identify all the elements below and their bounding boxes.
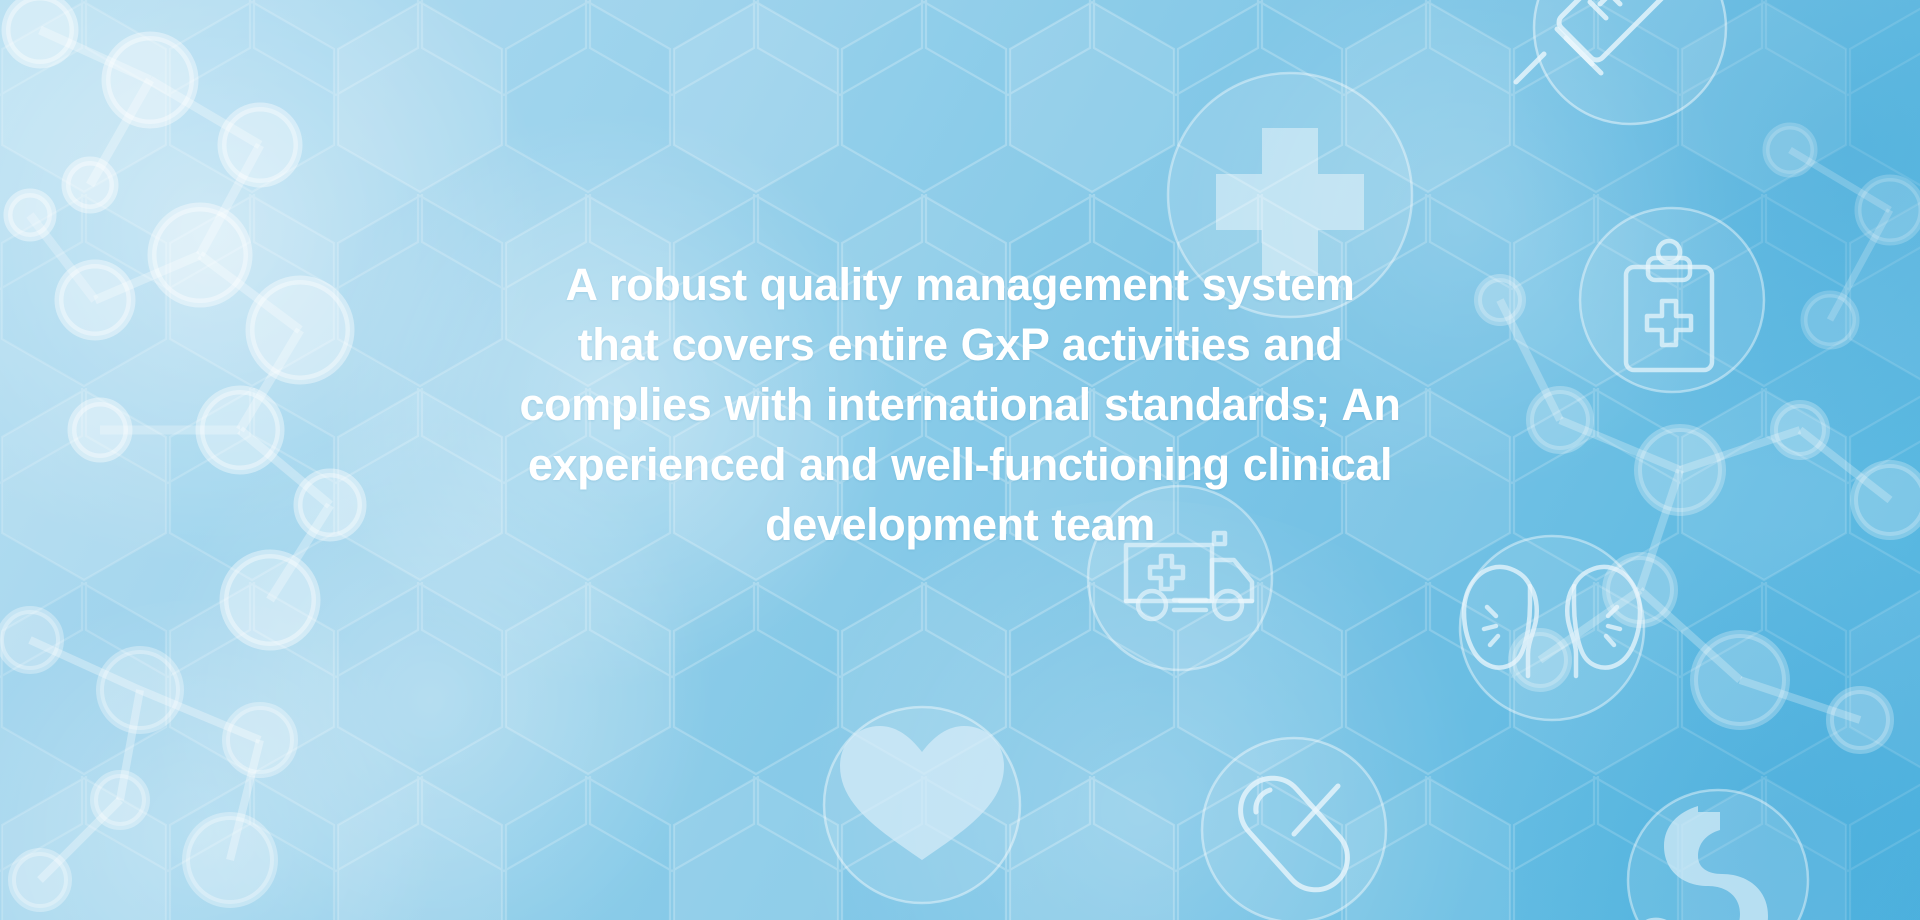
stomach-icon — [1626, 790, 1808, 920]
icon-decoration-layer — [0, 0, 1920, 920]
kidneys-icon — [1460, 536, 1644, 720]
ambulance-icon — [1088, 486, 1272, 670]
medical-clipboard-icon — [1580, 208, 1764, 392]
heart-icon — [824, 707, 1020, 903]
pill-capsule-icon — [1202, 738, 1386, 920]
hero-banner: A robust quality management system that … — [0, 0, 1920, 920]
medical-cross-icon — [1168, 73, 1412, 317]
syringe-icon — [1516, 0, 1726, 124]
